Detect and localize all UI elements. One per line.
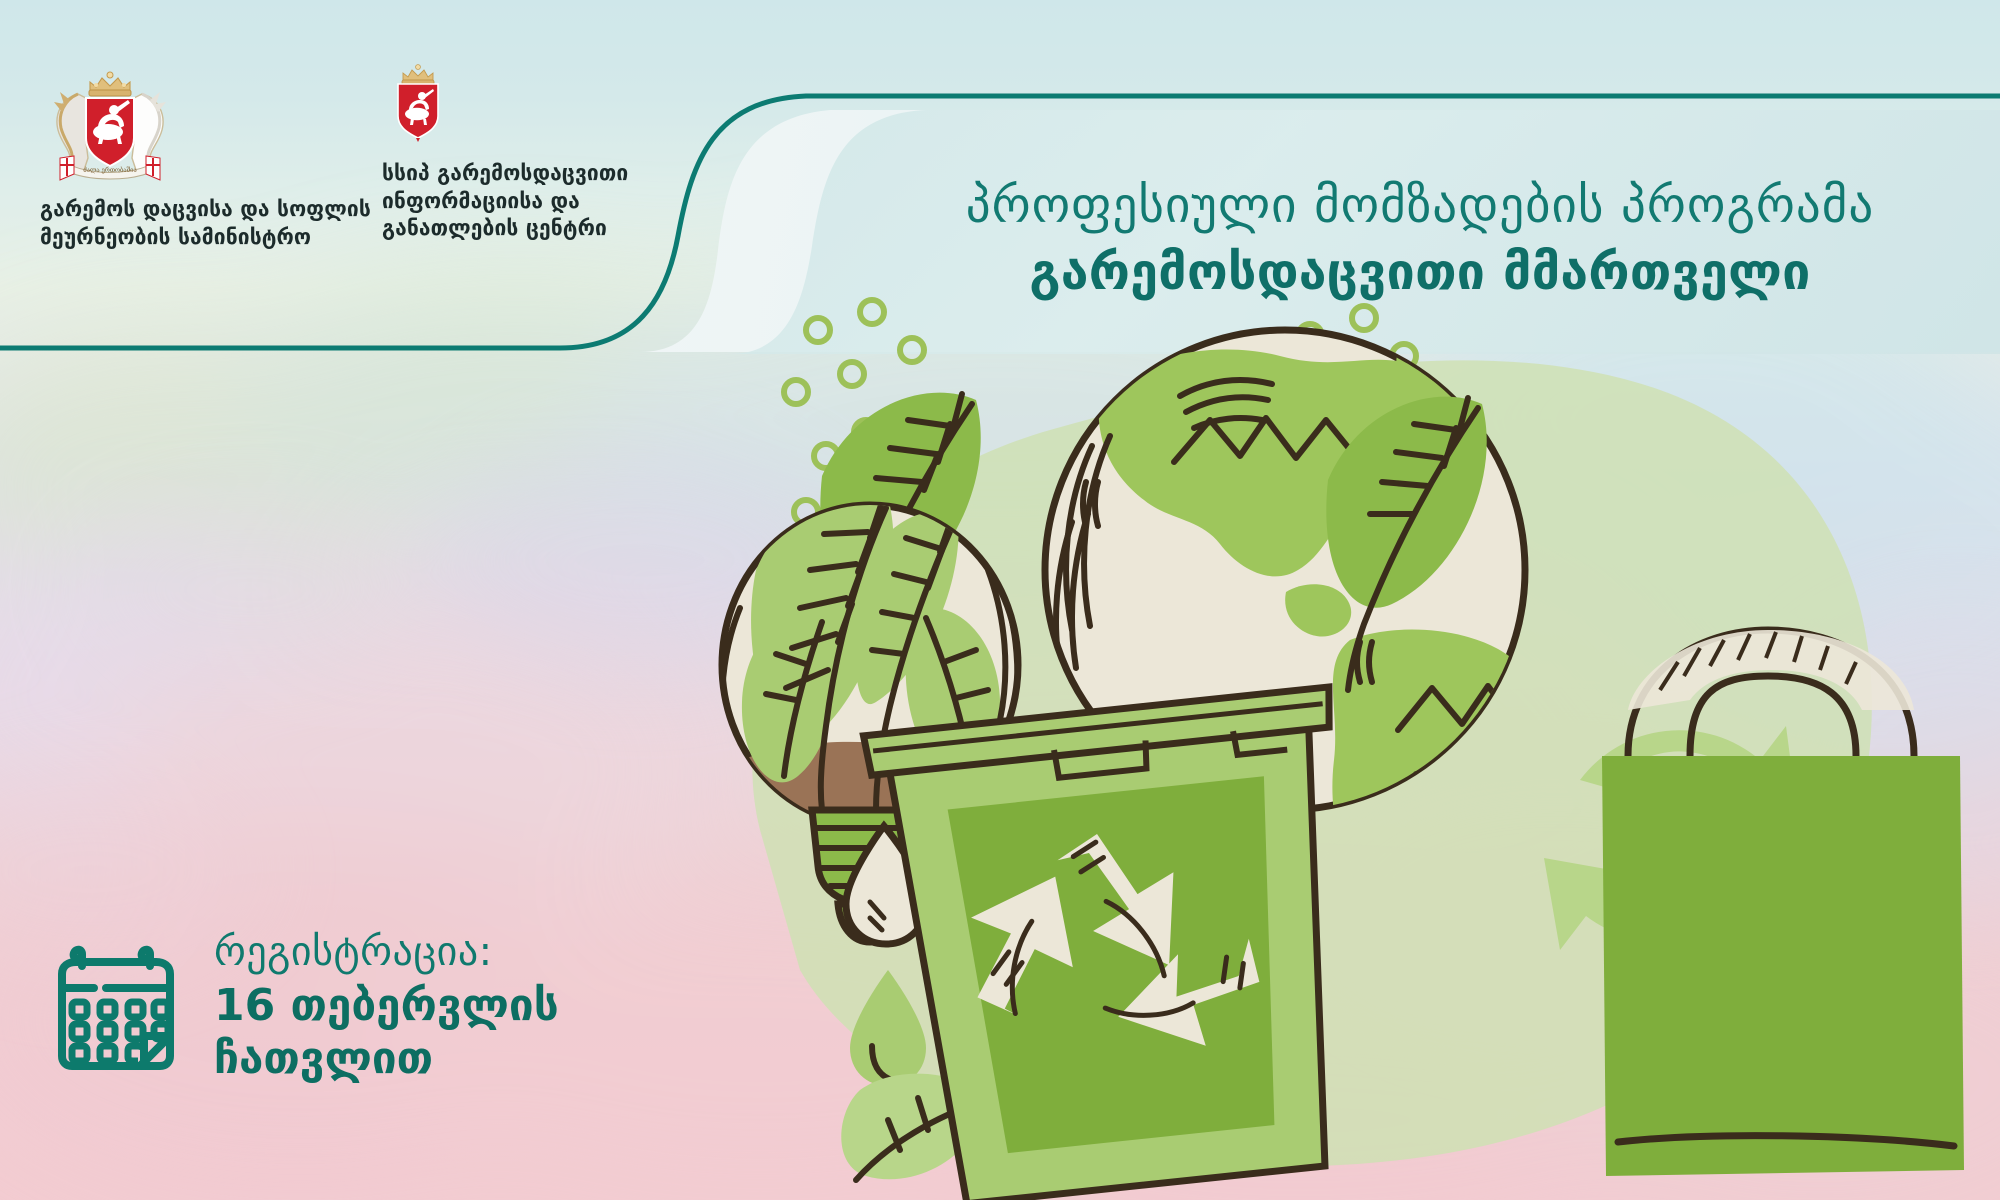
program-title-line-1: პროფესიული მომზადების პროგრამა: [860, 180, 1980, 233]
ministry-name-line-2: მეურნეობის სამინისტრო: [40, 224, 380, 252]
center-name-line-2: ინფორმაციისა და: [382, 188, 672, 216]
center-shield-logo: [382, 60, 454, 142]
registration-label: რეგისტრაცია:: [214, 930, 559, 974]
center-logo-text: სსიპ გარემოსდაცვითი ინფორმაციისა და განა…: [382, 160, 672, 243]
registration-date-line-2: ჩათვლით: [214, 1033, 559, 1086]
ministry-coat-of-arms-logo: ძალა ერთობაშია: [40, 58, 180, 186]
center-name-line-3: განათლების ცენტრი: [382, 215, 672, 243]
center-name-line-1: სსიპ გარემოსდაცვითი: [382, 160, 672, 188]
registration-block: რეგისტრაცია: 16 თებერვლის ჩათვლით: [52, 930, 559, 1086]
registration-date-line-1: 16 თებერვლის: [214, 980, 559, 1033]
svg-text:ძალა ერთობაშია: ძალა ერთობაშია: [83, 167, 137, 174]
registration-text: რეგისტრაცია: 16 თებერვლის ჩათვლით: [214, 930, 559, 1086]
environment-illustration: [700, 270, 2000, 1200]
ministry-logo-text: გარემოს დაცვისა და სოფლის მეურნეობის სამ…: [40, 196, 380, 251]
calendar-icon: [52, 944, 180, 1072]
banner-canvas: ძალა ერთობაშია გარემოს დაცვისა და სოფლის…: [0, 0, 2000, 1200]
ministry-name-line-1: გარემოს დაცვისა და სოფლის: [40, 196, 380, 224]
